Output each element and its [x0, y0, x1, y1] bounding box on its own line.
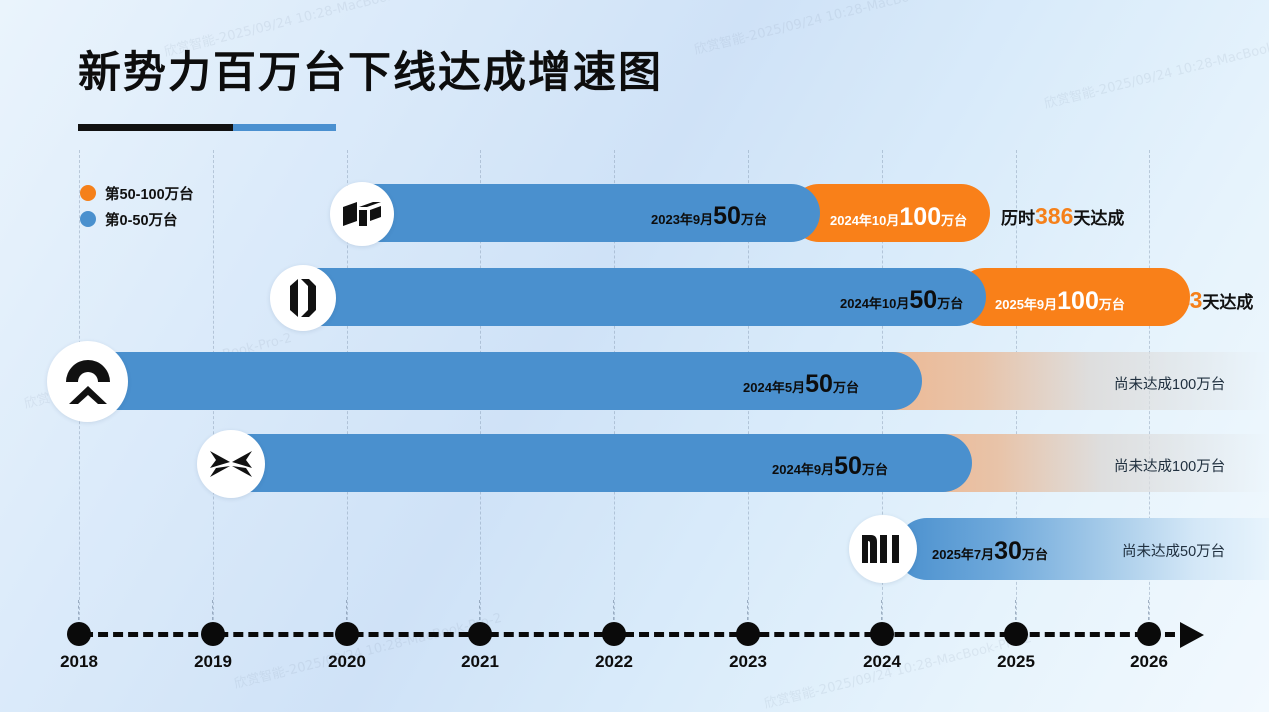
milestone-date-50: 2023年9月 — [651, 212, 713, 227]
nio-icon — [62, 358, 114, 406]
milestone-unit-50: 万台 — [833, 380, 859, 395]
milestone-value-50: 30 — [994, 537, 1022, 565]
bar-row-nio[interactable]: 2024年5月50万台 尚未达成100万台 — [0, 352, 1269, 410]
axis-year-2023: 2023 — [729, 652, 767, 672]
duration-suffix: 天达成 — [1202, 293, 1253, 312]
bar-row-li-auto[interactable]: 2023年9月50万台 2024年10月100万台 历时386天达成 — [0, 184, 1269, 242]
axis-year-2025: 2025 — [997, 652, 1035, 672]
bar-row-leapmotor[interactable]: 2024年10月50万台 2025年9月100万台 历时343天达成 — [0, 268, 1269, 326]
bar-label-30: 2025年7月30万台 — [932, 537, 1048, 566]
bar-label-50: 2023年9月50万台 — [651, 202, 767, 231]
milestone-unit-50: 万台 — [741, 212, 767, 227]
axis-year-2021: 2021 — [461, 652, 499, 672]
axis-year-2019: 2019 — [194, 652, 232, 672]
duration-suffix: 天达成 — [1073, 209, 1124, 228]
milestone-value-50: 50 — [805, 370, 833, 398]
axis-tick-2022 — [602, 622, 626, 646]
milestone-date-50: 2024年5月 — [743, 380, 805, 395]
leapmotor-logo — [270, 265, 336, 331]
milestone-unit-50: 万台 — [1022, 547, 1048, 562]
axis-arrow-icon — [1180, 622, 1204, 648]
axis-year-2024: 2024 — [863, 652, 901, 672]
axis-year-2022: 2022 — [595, 652, 633, 672]
li-auto-logo — [330, 182, 394, 246]
nio-logo — [47, 341, 128, 422]
bar-label-100: 2024年10月100万台 — [830, 203, 967, 232]
xpeng-icon — [208, 447, 254, 481]
axis-year-2020: 2020 — [328, 652, 366, 672]
timeline-axis: 2018 2019 2020 2021 2022 2023 2024 2025 … — [0, 600, 1269, 680]
milestone-unit-100: 万台 — [1099, 297, 1125, 312]
milestone-value-50: 50 — [834, 452, 862, 480]
pending-label: 尚未达成100万台 — [1114, 373, 1225, 394]
milestone-unit-100: 万台 — [941, 213, 967, 228]
bar-label-100: 2025年9月100万台 — [995, 287, 1125, 316]
milestone-date-50: 2025年7月 — [932, 547, 994, 562]
axis-tick-2025 — [1004, 622, 1028, 646]
duration-label: 历时386天达成 — [1001, 203, 1124, 230]
milestone-value-100: 100 — [1057, 287, 1099, 315]
bar-row-xiaomi[interactable]: 2025年7月30万台 尚未达成50万台 — [0, 518, 1269, 580]
axis-year-2018: 2018 — [60, 652, 98, 672]
axis-tick-2024 — [870, 622, 894, 646]
axis-year-2026: 2026 — [1130, 652, 1168, 672]
milestone-unit-50: 万台 — [862, 462, 888, 477]
axis-tick-2020 — [335, 622, 359, 646]
xiaomi-icon — [861, 534, 905, 564]
pending-label: 尚未达成50万台 — [1122, 540, 1225, 561]
bar-row-xpeng[interactable]: 2024年9月50万台 尚未达成100万台 — [0, 434, 1269, 492]
bar-label-50: 2024年9月50万台 — [772, 452, 888, 481]
axis-tick-2018 — [67, 622, 91, 646]
bar-label-50: 2024年5月50万台 — [743, 370, 859, 399]
axis-tick-2019 — [201, 622, 225, 646]
xpeng-logo — [197, 430, 265, 498]
milestone-unit-50: 万台 — [937, 296, 963, 311]
axis-tick-2026 — [1137, 622, 1161, 646]
milestone-date-100: 2024年10月 — [830, 213, 899, 228]
li-auto-icon — [342, 201, 382, 227]
milestone-value-50: 50 — [909, 286, 937, 314]
milestone-value-100: 100 — [899, 203, 941, 231]
duration-prefix: 历时 — [1001, 209, 1035, 228]
pending-label: 尚未达成100万台 — [1114, 455, 1225, 476]
axis-tick-2023 — [736, 622, 760, 646]
milestone-date-50: 2024年10月 — [840, 296, 909, 311]
duration-days: 386 — [1035, 203, 1073, 229]
milestone-value-50: 50 — [713, 202, 741, 230]
milestone-date-50: 2024年9月 — [772, 462, 834, 477]
xiaomi-logo — [849, 515, 917, 583]
milestone-date-100: 2025年9月 — [995, 297, 1057, 312]
axis-tick-2021 — [468, 622, 492, 646]
bar-label-50: 2024年10月50万台 — [840, 286, 963, 315]
infographic-canvas: 欣赏智能-2025/09/24 10:28-MacBook-Pro-2 欣赏智能… — [0, 0, 1269, 712]
leapmotor-icon — [284, 278, 322, 318]
